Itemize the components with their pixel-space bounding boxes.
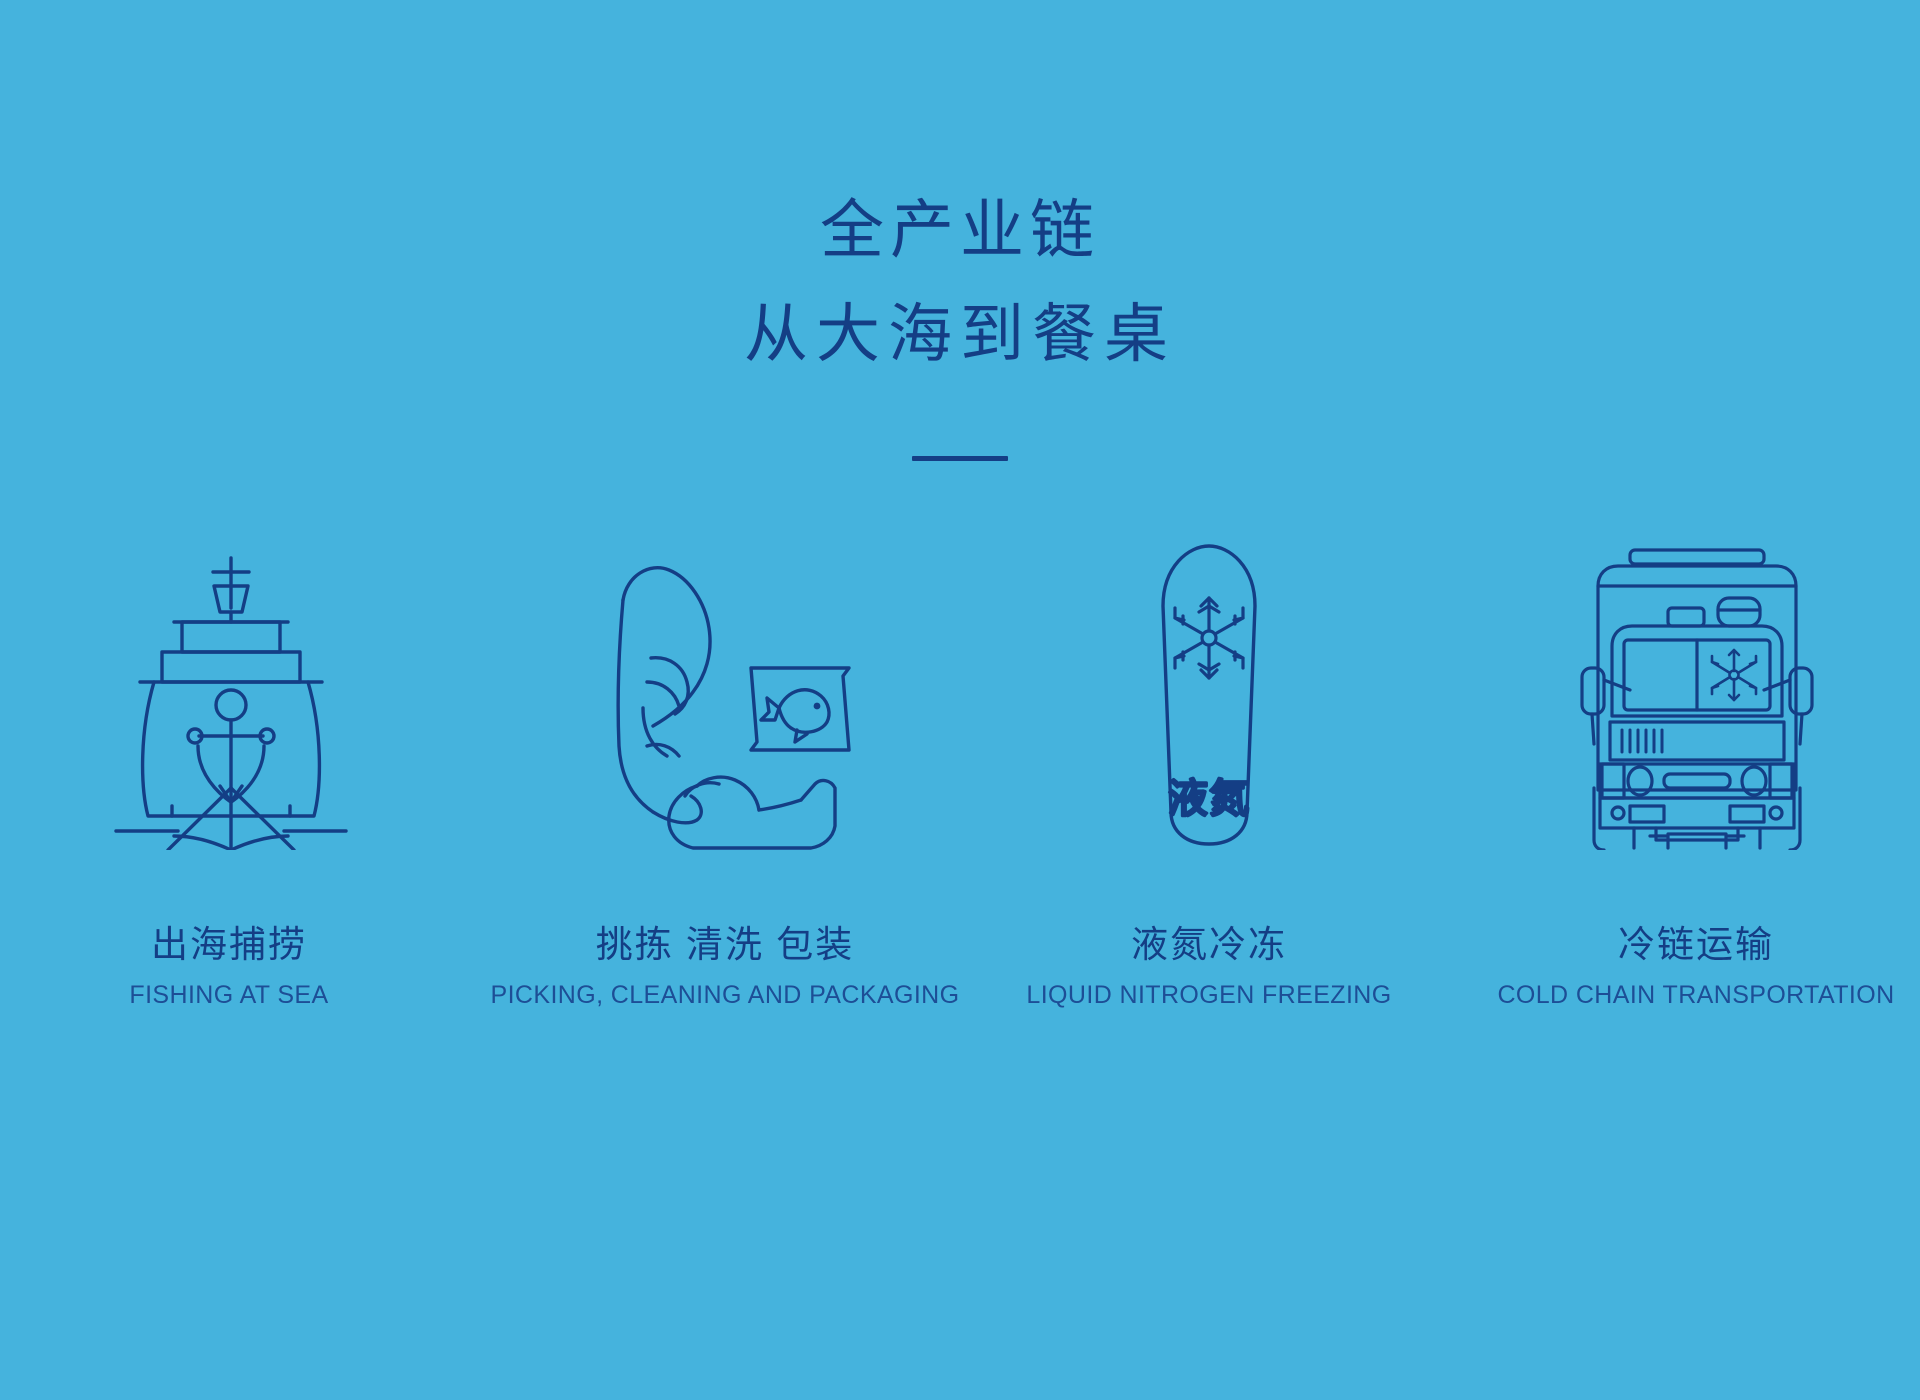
step-label-cn: 液氮冷冻	[1026, 922, 1391, 968]
page-heading: 全产业链 从大海到餐桌	[0, 178, 1920, 386]
liquid-nitrogen-tank-icon: 液氮	[1139, 520, 1279, 850]
process-steps-row: 出海捕捞 FISHING AT SEA	[0, 520, 1920, 1012]
tank-label-text: 液氮	[1168, 777, 1250, 821]
step-label-en: LIQUID NITROGEN FREEZING	[1026, 978, 1391, 1012]
step-fishing-at-sea: 出海捕捞 FISHING AT SEA	[0, 520, 480, 1012]
step-label-cn: 冷链运输	[1497, 922, 1894, 968]
step-labels: 挑拣 清洗 包装 PICKING, CLEANING AND PACKAGING	[491, 922, 960, 1012]
step-picking-cleaning-packaging: 挑拣 清洗 包装 PICKING, CLEANING AND PACKAGING	[480, 520, 960, 1012]
step-labels: 液氮冷冻 LIQUID NITROGEN FREEZING	[1026, 922, 1391, 1012]
step-label-en: FISHING AT SEA	[129, 978, 328, 1012]
heading-divider	[912, 456, 1008, 461]
heading-line-primary: 全产业链	[0, 178, 1920, 282]
step-label-cn: 出海捕捞	[129, 922, 328, 968]
snowflake-icon	[1712, 650, 1756, 700]
step-label-en: COLD CHAIN TRANSPORTATION	[1497, 978, 1894, 1012]
step-labels: 出海捕捞 FISHING AT SEA	[129, 922, 328, 1012]
fishing-boat-with-anchor-icon	[106, 520, 356, 850]
heading-line-secondary: 从大海到餐桌	[0, 282, 1920, 386]
refrigerated-truck-icon	[1572, 520, 1822, 850]
step-liquid-nitrogen-freezing: 液氮 液氮冷冻 LIQUID NITROGEN FREEZING	[960, 520, 1440, 1012]
step-label-en: PICKING, CLEANING AND PACKAGING	[491, 978, 960, 1012]
hands-holding-packaged-fish-icon	[601, 520, 861, 850]
step-cold-chain-transportation: 冷链运输 COLD CHAIN TRANSPORTATION	[1440, 520, 1920, 1012]
step-label-cn: 挑拣 清洗 包装	[491, 922, 960, 968]
snowflake-icon	[1175, 598, 1243, 678]
heading-divider-wrap	[0, 456, 1920, 461]
step-labels: 冷链运输 COLD CHAIN TRANSPORTATION	[1497, 922, 1894, 1012]
page-root: 全产业链 从大海到餐桌	[0, 0, 1920, 1400]
